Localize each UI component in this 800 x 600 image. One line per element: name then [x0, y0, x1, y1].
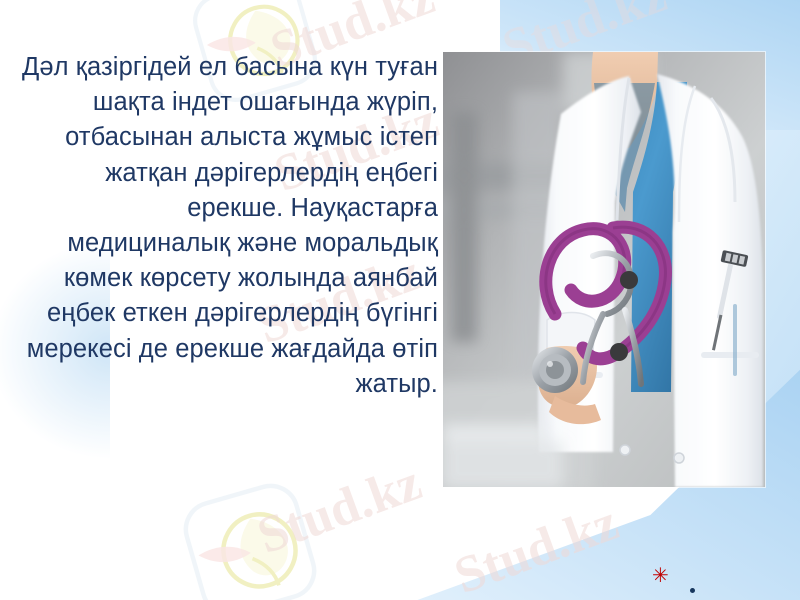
- asterisk-marker: ✳: [652, 566, 669, 586]
- presentation-slide: Stud.kz Stud.kz Stud.kz Stud.kz Stud.kz …: [0, 0, 800, 600]
- slide-body-text: Дәл қазіргідей ел басына күн туған шақта…: [18, 50, 438, 402]
- dot-marker: [690, 588, 695, 593]
- doctor-photo: [443, 52, 765, 487]
